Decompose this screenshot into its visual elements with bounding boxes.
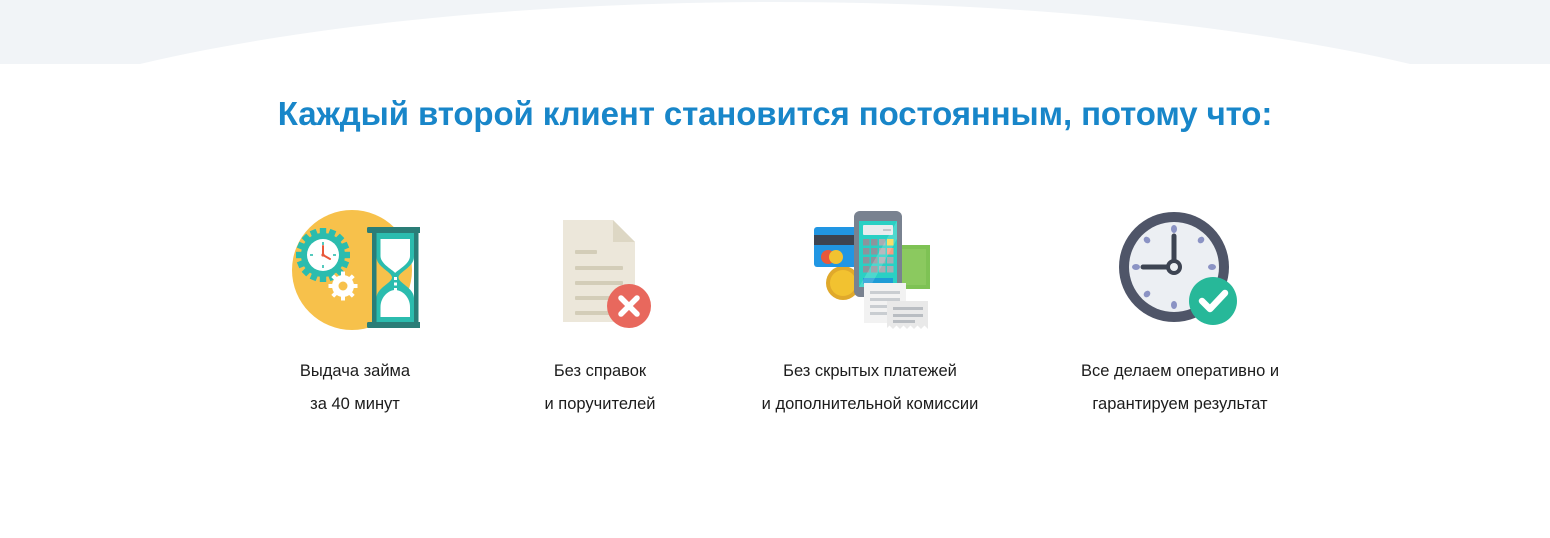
caption-line-2: и поручителей — [545, 388, 656, 421]
caption-line-1: Без справок — [545, 355, 656, 388]
caption-line-2: гарантируем результат — [1081, 388, 1279, 421]
page-title: Каждый второй клиент становится постоянн… — [0, 95, 1550, 133]
payments-phone-card-icon — [798, 205, 943, 335]
feature-item-loan-speed: Выдача займа за 40 минут — [230, 205, 480, 421]
feature-section: Каждый второй клиент становится постоянн… — [0, 0, 1550, 538]
feature-item-no-hidden-fees: Без скрытых платежей и дополнительной ко… — [720, 205, 1020, 421]
caption-line-1: Без скрытых платежей — [762, 355, 979, 388]
caption-line-1: Все делаем оперативно и — [1081, 355, 1279, 388]
document-reject-icon — [545, 210, 655, 330]
feature-icon-wrap — [290, 205, 420, 335]
caption-line-2: за 40 минут — [300, 388, 410, 421]
features-row: Выдача займа за 40 минут — [230, 205, 1320, 421]
caption-line-2: и дополнительной комиссии — [762, 388, 979, 421]
feature-item-guaranteed-result: Все делаем оперативно и гарантируем резу… — [1040, 205, 1320, 421]
feature-caption: Выдача займа за 40 минут — [300, 355, 410, 421]
hourglass-gear-clock-icon — [290, 205, 420, 335]
feature-caption: Без справок и поручителей — [545, 355, 656, 421]
feature-caption: Все делаем оперативно и гарантируем резу… — [1081, 355, 1279, 421]
feature-item-no-documents: Без справок и поручителей — [500, 205, 700, 421]
feature-icon-wrap — [798, 205, 943, 335]
feature-icon-wrap — [1115, 205, 1245, 335]
clock-check-icon — [1115, 208, 1245, 333]
feature-icon-wrap — [545, 205, 655, 335]
feature-caption: Без скрытых платежей и дополнительной ко… — [762, 355, 979, 421]
caption-line-1: Выдача займа — [300, 355, 410, 388]
